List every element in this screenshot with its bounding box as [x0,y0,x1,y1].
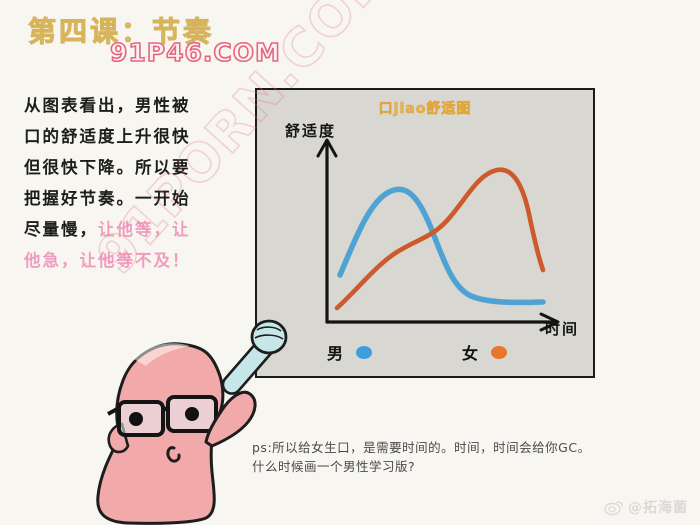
legend-label-male: 男 [327,340,344,364]
chart-plot-area [257,90,595,378]
legend-label-female: 女 [462,340,479,364]
narrative-line-4: 把握好节奏。一开始 [24,183,239,214]
weibo-icon [604,498,624,516]
narrative-line-5: 尽量慢，让他等，让 [24,214,239,245]
cartoon-lecturer-figure [62,296,292,525]
legend-swatch-female-icon [491,346,507,359]
ps-note-line-2: 什么时候画一个男性学习版? [252,457,672,476]
chart-panel: 口jiao舒适图 舒适度 时间 男 女 [255,88,595,378]
narrative-line-3: 但很快下降。所以要 [24,152,239,183]
ps-note-line-1: ps:所以给女生口，是需要时间的。时间，时间会给你GC。 [252,438,672,457]
legend-swatch-male-icon [356,346,372,359]
top-watermark: 91P46.COM [110,38,281,67]
series-line-female [337,170,543,308]
chart-legend: 男 女 [327,340,577,366]
pointer-microphone-icon [219,321,286,397]
narrative-line-2: 口的舒适度上升很快 [24,121,239,152]
series-line-male [340,189,543,302]
legend-item-female: 女 [462,340,507,364]
comic-panel-root: 第四课：节奏 从图表看出，男性被 口的舒适度上升很快 但很快下降。所以要 把握好… [0,0,700,525]
credit-handle: @拓海菌 [628,497,688,517]
character-left-eye [129,412,143,426]
character-glasses-icon [108,397,216,435]
narrative-line-1: 从图表看出，男性被 [24,90,239,121]
ps-note: ps:所以给女生口，是需要时间的。时间，时间会给你GC。 什么时候画一个男性学习… [252,438,672,476]
narrative-line-5-black: 尽量慢， [24,220,98,239]
legend-item-male: 男 [327,340,372,364]
narrative-line-6: 他急，让他等不及！ [24,245,239,276]
narrative-line-5-pink: 让他等，让 [98,220,191,239]
narrative-text-block: 从图表看出，男性被 口的舒适度上升很快 但很快下降。所以要 把握好节奏。一开始 … [24,90,239,276]
character-right-eye [185,407,199,421]
credit-block[interactable]: @拓海菌 [604,497,688,517]
